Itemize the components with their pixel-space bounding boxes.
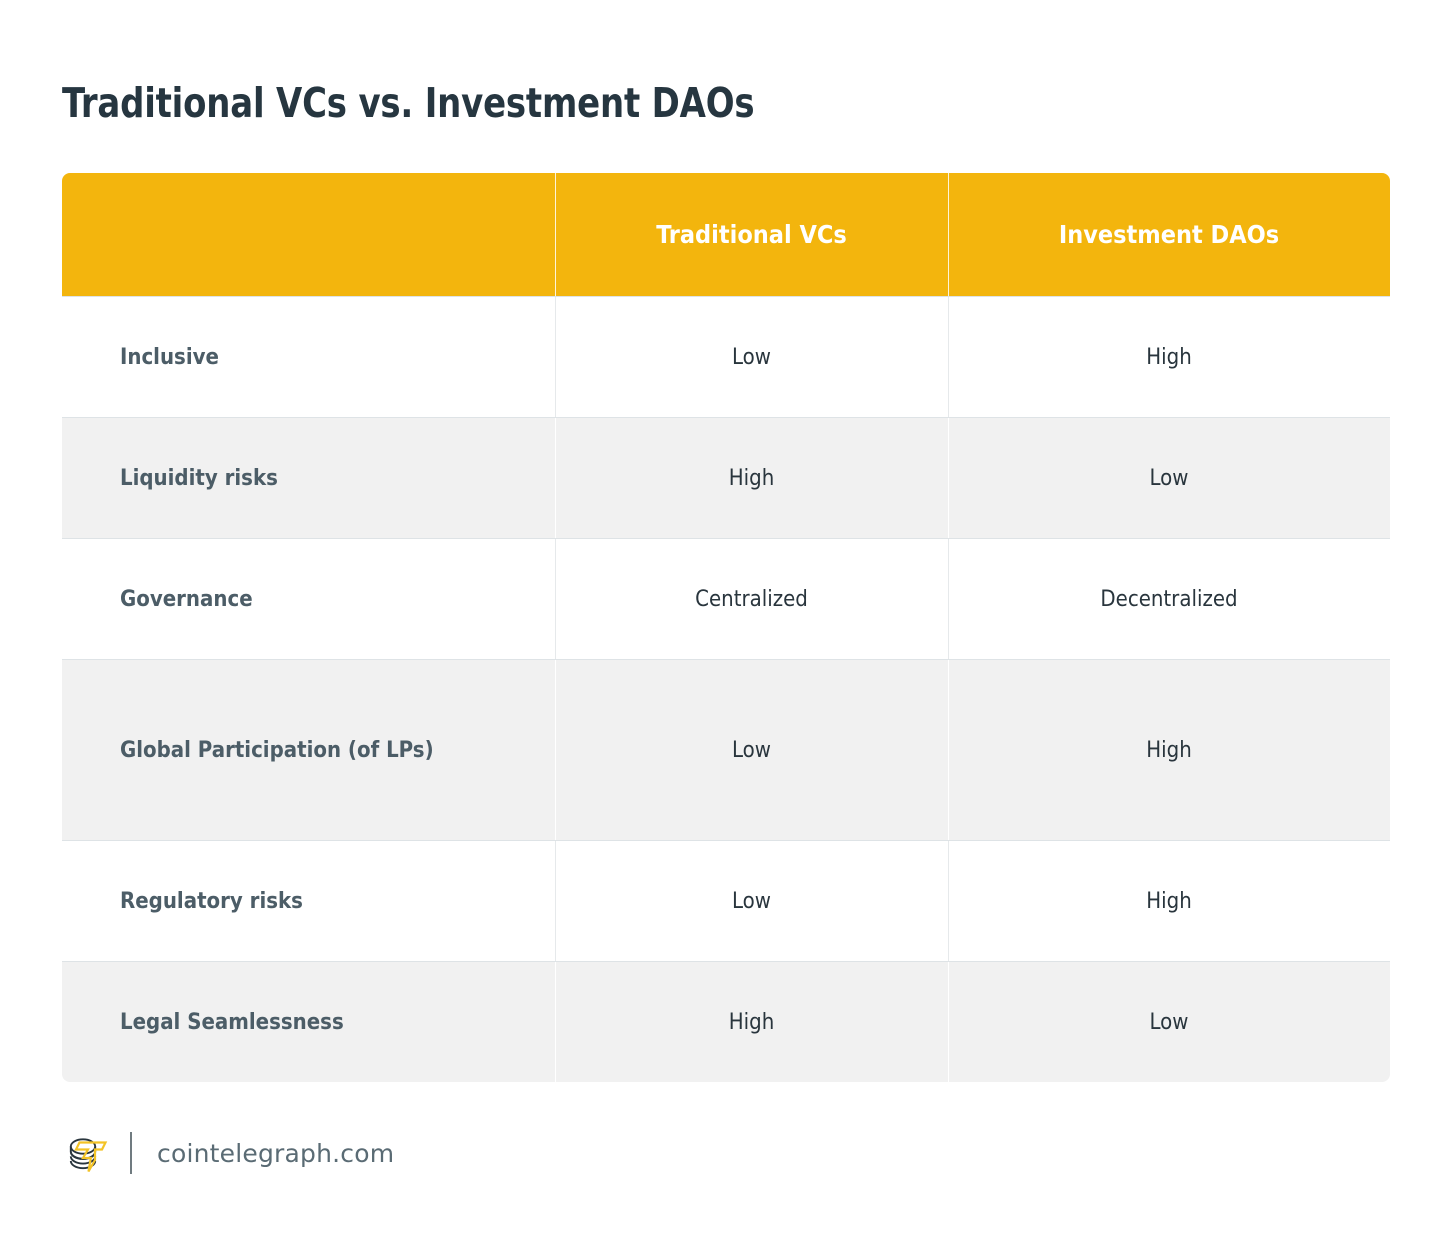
row-label-legal-seamlessness: Legal Seamlessness [62,962,555,1083]
table-row: Global Participation (of LPs) Low High [62,660,1390,841]
row-label-governance: Governance [62,539,555,660]
header-cell-blank [62,173,555,297]
cell-governance-vc: Centralized [555,539,948,660]
row-label-regulatory-risks: Regulatory risks [62,841,555,962]
table-header: Traditional VCs Investment DAOs [62,173,1390,297]
comparison-infographic: Traditional VCs vs. Investment DAOs Trad… [0,0,1450,1236]
header-cell-traditional-vcs: Traditional VCs [555,173,948,297]
cell-legal-seamlessness-dao: Low [948,962,1390,1083]
table-body: Inclusive Low High Liquidity risks High … [62,297,1390,1083]
header-row: Traditional VCs Investment DAOs [62,173,1390,297]
cell-legal-seamlessness-vc: High [555,962,948,1083]
cell-inclusive-vc: Low [555,297,948,418]
cell-governance-dao: Decentralized [948,539,1390,660]
table-row: Governance Centralized Decentralized [62,539,1390,660]
row-label-global-participation: Global Participation (of LPs) [62,660,555,841]
header-cell-investment-daos: Investment DAOs [948,173,1390,297]
cointelegraph-logo-icon [62,1127,114,1179]
cell-regulatory-risks-vc: Low [555,841,948,962]
cell-liquidity-risks-dao: Low [948,418,1390,539]
footer: cointelegraph.com [62,1120,394,1186]
cell-regulatory-risks-dao: High [948,841,1390,962]
footer-divider [130,1132,132,1174]
table: Traditional VCs Investment DAOs Inclusiv… [62,173,1390,1082]
cell-inclusive-dao: High [948,297,1390,418]
row-label-inclusive: Inclusive [62,297,555,418]
cell-global-participation-dao: High [948,660,1390,841]
comparison-table: Traditional VCs Investment DAOs Inclusiv… [62,173,1390,1082]
cell-global-participation-vc: Low [555,660,948,841]
cell-liquidity-risks-vc: High [555,418,948,539]
table-row: Legal Seamlessness High Low [62,962,1390,1083]
table-row: Inclusive Low High [62,297,1390,418]
page-title: Traditional VCs vs. Investment DAOs [62,77,754,129]
footer-site-label: cointelegraph.com [157,1139,394,1168]
row-label-liquidity-risks: Liquidity risks [62,418,555,539]
table-row: Liquidity risks High Low [62,418,1390,539]
table-row: Regulatory risks Low High [62,841,1390,962]
